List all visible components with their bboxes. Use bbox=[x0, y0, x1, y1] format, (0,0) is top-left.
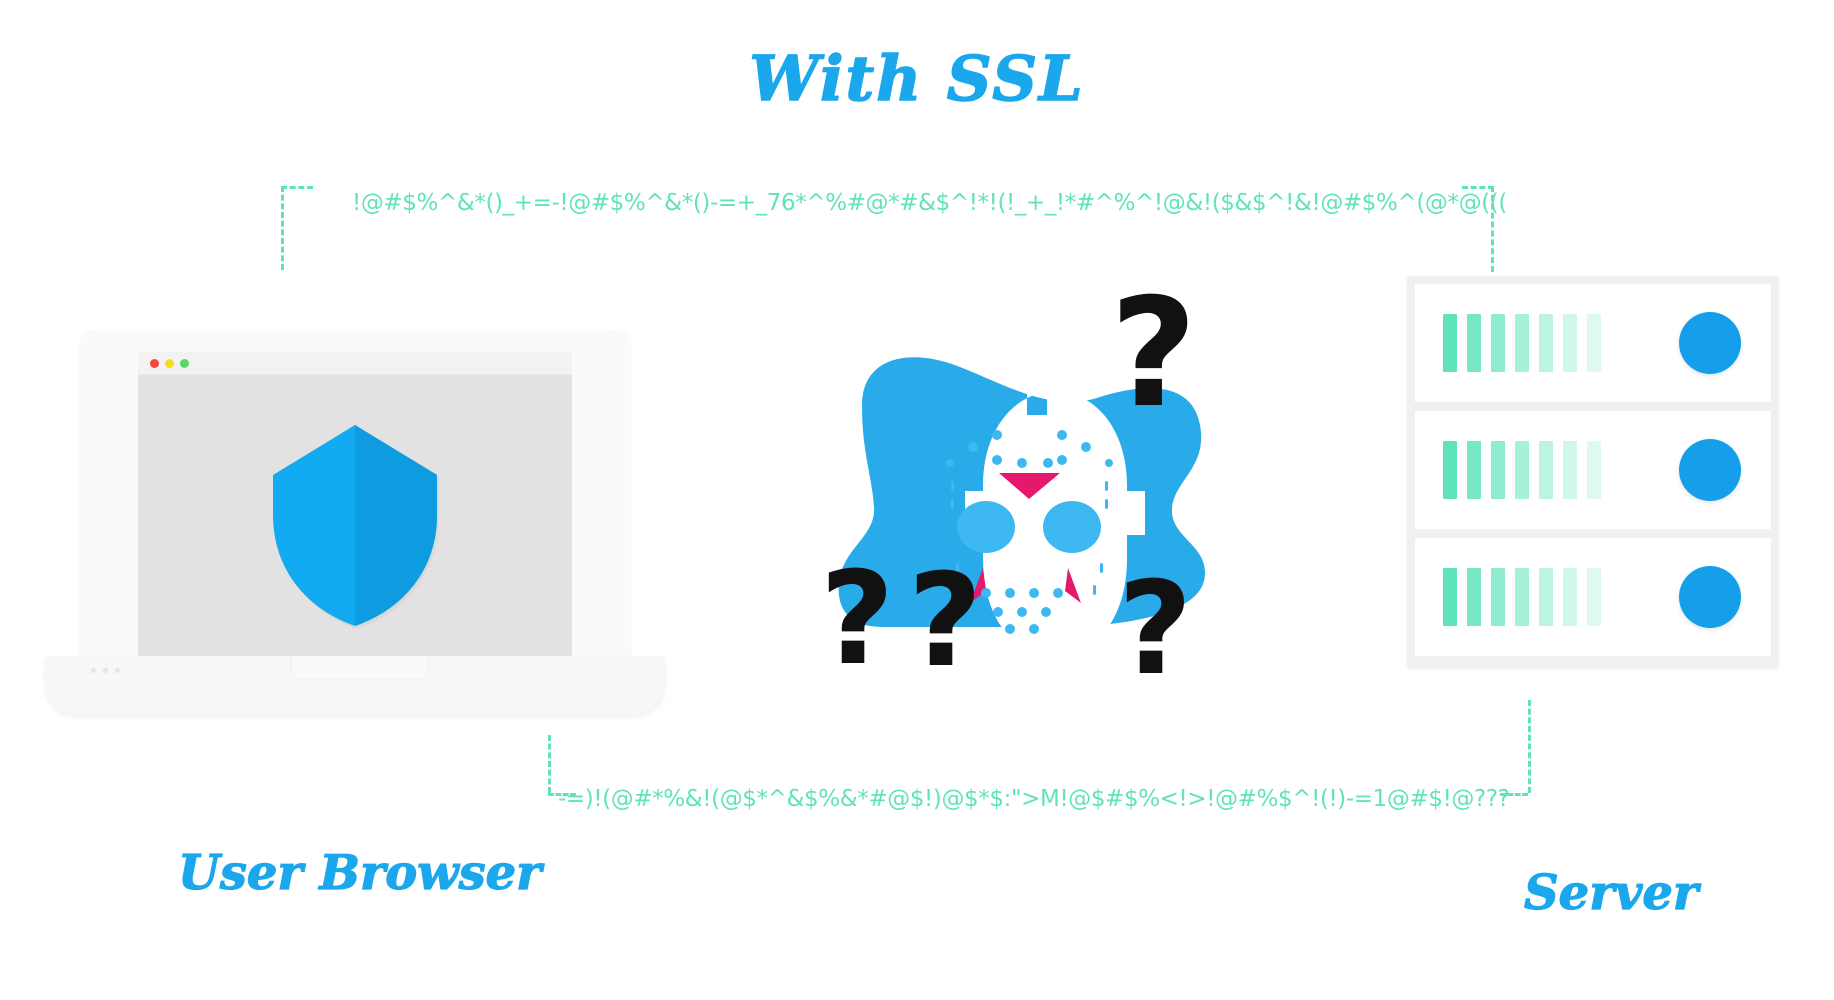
laptop-screen bbox=[138, 352, 572, 662]
browser-title-bar bbox=[138, 352, 572, 375]
browser-viewport bbox=[138, 375, 572, 662]
question-mark-icon-1: ? bbox=[1110, 285, 1197, 441]
hacker-illustration: ? ? ? ? bbox=[800, 285, 1225, 675]
browser-close-dot-icon[interactable] bbox=[150, 359, 159, 368]
mask-eye-right bbox=[1043, 501, 1101, 553]
mask-eye-left bbox=[957, 501, 1015, 553]
server-rack bbox=[1407, 276, 1779, 668]
server-rack-unit bbox=[1415, 284, 1771, 402]
response-line-left-vertical bbox=[548, 735, 551, 793]
laptop-base bbox=[45, 656, 665, 714]
server-activity-bars-icon bbox=[1443, 314, 1601, 372]
question-mark-icon-3: ? bbox=[908, 547, 982, 675]
server-label: Server bbox=[1524, 865, 1698, 921]
browser-maximize-dot-icon[interactable] bbox=[180, 359, 189, 368]
server-activity-bars-icon bbox=[1443, 441, 1601, 499]
response-cipher-text: -=)!(@#*%&!(@$*^&$%&*#@$!)@$*$:">M!@$#$%… bbox=[558, 786, 1509, 812]
shield-icon bbox=[269, 423, 441, 628]
request-line-left-vertical bbox=[281, 186, 284, 270]
server-status-led-icon bbox=[1679, 439, 1741, 501]
response-line-right-vertical bbox=[1528, 700, 1531, 793]
laptop-trackpad[interactable] bbox=[291, 656, 428, 679]
laptop-indicator-dots-icon bbox=[91, 668, 120, 673]
ssl-diagram-canvas: With SSL !@#$%^&*()_+=-!@#$%^&*()-=+_76*… bbox=[0, 0, 1834, 1000]
server-status-led-icon bbox=[1679, 312, 1741, 374]
server-status-led-icon bbox=[1679, 566, 1741, 628]
question-mark-icon-4: ? bbox=[1118, 555, 1192, 675]
user-browser-label: User Browser bbox=[178, 845, 541, 901]
browser-minimize-dot-icon[interactable] bbox=[165, 359, 174, 368]
user-browser-laptop bbox=[45, 330, 665, 730]
request-cipher-text: !@#$%^&*()_+=-!@#$%^&*()-=+_76*^%#@*#&$^… bbox=[352, 190, 1507, 216]
request-line-right-elbow bbox=[1462, 186, 1494, 189]
server-rack-unit bbox=[1415, 411, 1771, 529]
server-activity-bars-icon bbox=[1443, 568, 1601, 626]
server-rack-unit bbox=[1415, 538, 1771, 656]
request-line-left-elbow bbox=[281, 186, 313, 189]
laptop-lid bbox=[80, 330, 630, 670]
question-mark-icon-2: ? bbox=[820, 545, 894, 675]
page-title: With SSL bbox=[0, 42, 1834, 115]
